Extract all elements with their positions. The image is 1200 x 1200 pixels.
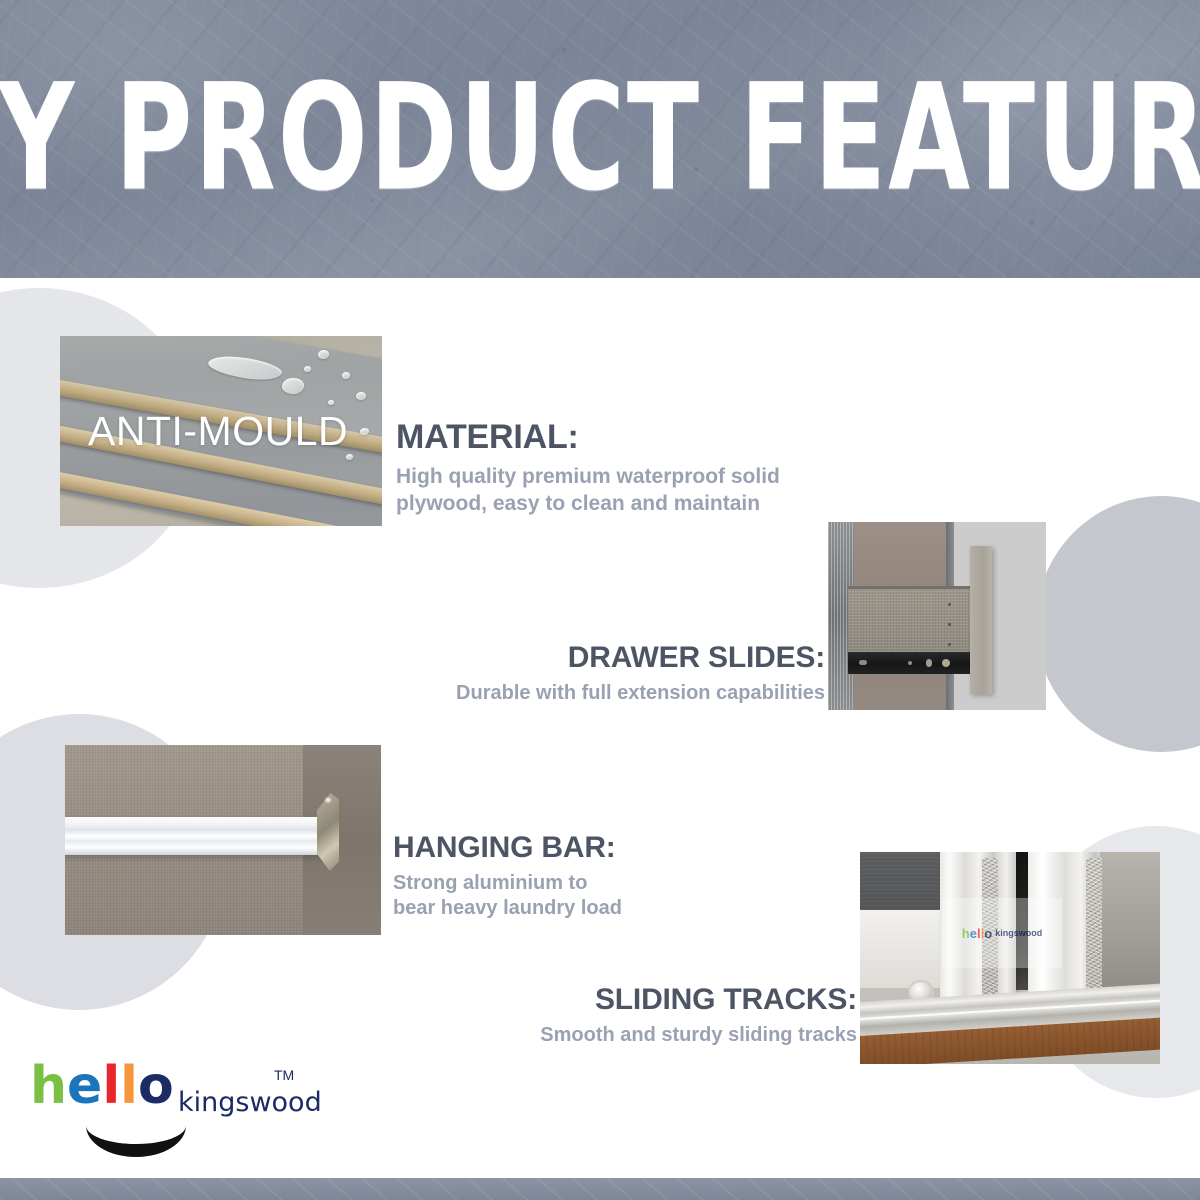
drawer-box [848, 586, 974, 658]
decorative-circle-right-upper [1036, 496, 1200, 752]
water-droplet-small [342, 372, 350, 379]
logo-letter-h: h [30, 1063, 67, 1111]
drawer-front-panel [970, 546, 992, 694]
feature-body-hanging-bar-line2: bear heavy laundry load [393, 896, 793, 922]
logo-trademark-symbol: TM [274, 1067, 294, 1083]
rail-slot [859, 660, 867, 665]
feature-body-drawer-slides: Durable with full extension capabilities [370, 681, 825, 707]
feature-body-material-line2: plywood, easy to clean and maintain [396, 491, 836, 518]
sliding-door-aluminium-track-with-roller-photo: hello kingswood [860, 852, 1160, 1064]
feature-text-material: MATERIAL: High quality premium waterproo… [396, 420, 836, 517]
drawer-slide-rail [848, 652, 976, 674]
left-white-panel [860, 910, 942, 988]
brand-logo[interactable]: h e l l o kingswood TM [30, 1063, 302, 1163]
footer-bar [0, 1178, 1200, 1200]
water-droplet-small [318, 350, 329, 359]
page-title: KEY PRODUCT FEATURES [48, 0, 1152, 299]
feature-body-material-line1: High quality premium waterproof solid [396, 464, 836, 491]
extended-drawer-with-metal-slide-rail-photo [828, 522, 1046, 710]
drawer-screw-hole [948, 643, 951, 646]
feature-heading-material: MATERIAL: [396, 420, 836, 456]
infographic-page: KEY PRODUCT FEATURES ANTI-MOULD MATERIAL… [0, 0, 1200, 1200]
feature-text-sliding-tracks: SLIDING TRACKS: Smooth and sturdy slidin… [430, 984, 857, 1048]
aluminium-hanging-bar [65, 817, 327, 855]
door-brush-seal [1086, 858, 1102, 1000]
feature-heading-drawer-slides: DRAWER SLIDES: [370, 642, 825, 674]
hello-kingswood-watermark: hello kingswood [942, 898, 1062, 968]
logo-smile-curve [86, 1121, 186, 1157]
feature-body-hanging-bar-line1: Strong aluminium to [393, 871, 793, 897]
feature-body-sliding-tracks: Smooth and sturdy sliding tracks [430, 1023, 857, 1049]
feature-heading-sliding-tracks: SLIDING TRACKS: [430, 984, 857, 1016]
feature-heading-hanging-bar: HANGING BAR: [393, 832, 793, 864]
anti-mould-overlay-label: ANTI-MOULD [88, 408, 348, 455]
drawer-screw-hole [948, 603, 951, 606]
water-droplet-small [360, 428, 369, 435]
rail-hole [908, 661, 912, 665]
bracket-highlight [323, 797, 333, 803]
rail-screw [942, 659, 950, 667]
watermark-hello-text: hello [962, 926, 992, 941]
feature-text-drawer-slides: DRAWER SLIDES: Durable with full extensi… [370, 642, 825, 706]
logo-brand-name: kingswood [178, 1087, 322, 1118]
logo-letter-e: e [67, 1063, 102, 1111]
logo-letter-o: o [138, 1063, 174, 1111]
rail-slot [926, 659, 932, 667]
feature-text-hanging-bar: HANGING BAR: Strong aluminium to bear he… [393, 832, 793, 922]
aluminium-hanging-rail-with-bracket-photo [65, 745, 381, 935]
water-droplet-small [304, 366, 311, 372]
watermark-brand-text: kingswood [995, 928, 1042, 938]
water-droplet-medium [282, 378, 304, 394]
logo-wordmark-hello: h e l l o [30, 1063, 174, 1111]
drawer-screw-hole [948, 623, 951, 626]
water-droplet-small [328, 400, 334, 405]
logo-letter-l-second: l [120, 1063, 138, 1111]
logo-letter-l-first: l [102, 1063, 120, 1111]
